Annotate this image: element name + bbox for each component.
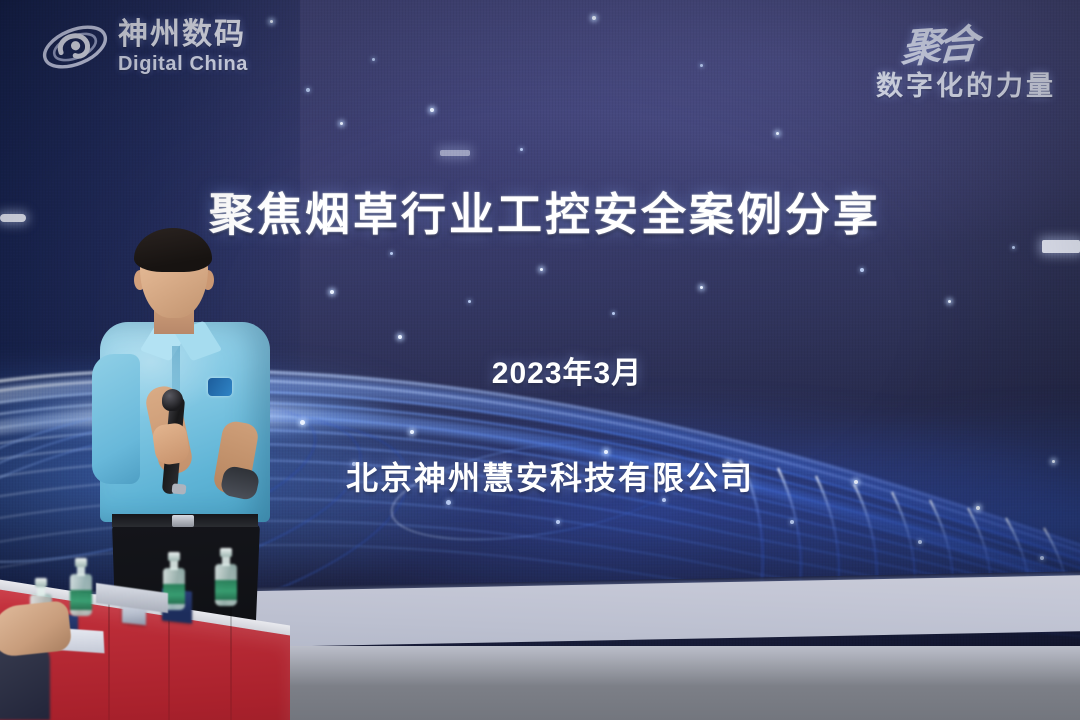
- table-cloth-fold: [108, 588, 110, 720]
- speaker-sleeve-left: [92, 354, 140, 484]
- water-bottle: [215, 548, 237, 606]
- speaker-hair: [134, 228, 212, 272]
- speaker-person: [96, 226, 276, 606]
- table-cloth-fold: [230, 588, 232, 720]
- speaker-hand-left: [151, 422, 190, 466]
- chest-logo-badge: [208, 378, 232, 396]
- microphone-capsule: [162, 389, 183, 411]
- seated-person-hand: [0, 600, 72, 658]
- water-bottle: [70, 558, 92, 616]
- conference-photo: 神州数码 Digital China 聚合 数字化的力量 聚焦烟草行业工控安全案…: [0, 0, 1080, 720]
- microphone-base: [172, 483, 187, 494]
- speaker-belt-buckle: [172, 515, 194, 527]
